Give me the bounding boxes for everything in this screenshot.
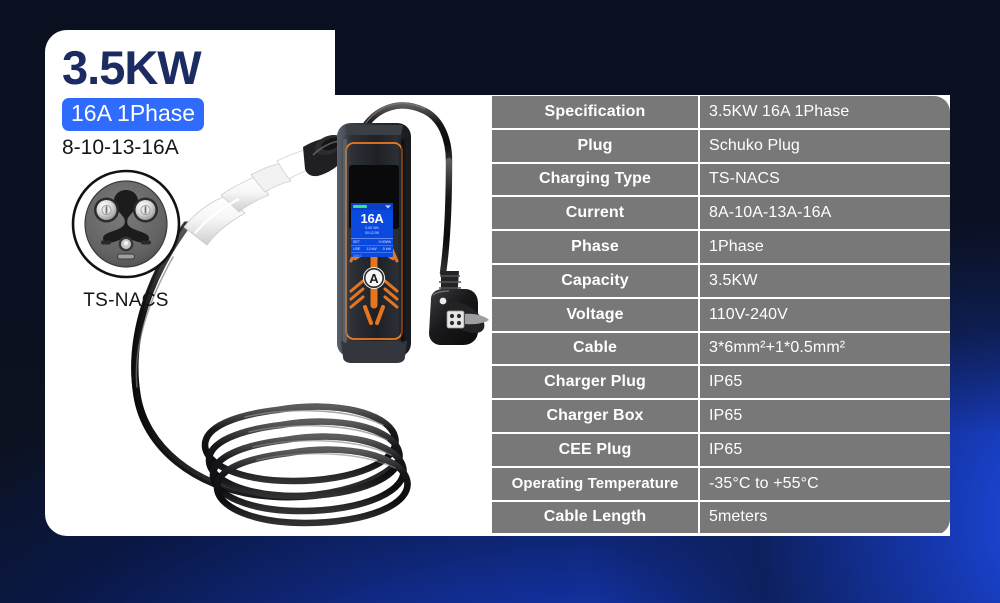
product-illustration: A [45, 95, 495, 536]
schuko-plug-icon [429, 161, 489, 345]
lcd-sub-line-2: 00:12:59 [351, 231, 393, 236]
table-row: Phase 1Phase [492, 231, 950, 265]
table-cell-key: Phase [492, 231, 698, 263]
table-row: Operating Temperature -35°C to +55°C [492, 468, 950, 502]
table-cell-value: 3.5KW [700, 265, 950, 297]
table-cell-key: Cable [492, 333, 698, 365]
table-row: Charging Type TS-NACS [492, 164, 950, 198]
device-lcd-screen: 16A 0.00 Wh 00:12:59 SET 0.00Wh USE 12 k… [351, 203, 393, 257]
table-cell-key: Operating Temperature [492, 468, 698, 500]
table-cell-key: Capacity [492, 265, 698, 297]
table-row: Cable 3*6mm²+1*0.5mm² [492, 333, 950, 367]
table-cell-value: IP65 [700, 434, 950, 466]
table-row: Charger Box IP65 [492, 400, 950, 434]
table-row: Specification 3.5KW 16A 1Phase [492, 96, 950, 130]
table-cell-key: Specification [492, 96, 698, 128]
page-title: 3.5KW [62, 44, 204, 92]
table-cell-key: Charger Box [492, 400, 698, 432]
signal-icon [353, 205, 367, 208]
table-cell-key: Voltage [492, 299, 698, 331]
connector-badge: TS-NACS [70, 168, 182, 312]
lcd-row: USE 12 kW 0 kW [351, 246, 393, 253]
svg-text:A: A [369, 271, 379, 286]
status-badge: 16A 1Phase [62, 98, 204, 131]
lcd-row-label: SET [353, 239, 360, 245]
table-cell-value: IP65 [700, 366, 950, 398]
lcd-current-value: 16A [351, 211, 393, 226]
table-cell-key: Plug [492, 130, 698, 162]
lcd-row-value: 0.00Wh [379, 239, 391, 245]
table-cell-value: 3*6mm²+1*0.5mm² [700, 333, 950, 365]
table-cell-key: Current [492, 197, 698, 229]
card-step-curve [280, 28, 350, 100]
ts-nacs-connector-icon [70, 168, 182, 280]
table-row: CEE Plug IP65 [492, 434, 950, 468]
specification-table: Specification 3.5KW 16A 1Phase Plug Schu… [492, 96, 950, 535]
headline-block: 3.5KW 16A 1Phase 8-10-13-16A [62, 44, 204, 160]
table-cell-key: Charger Plug [492, 366, 698, 398]
lcd-row-label: USE [353, 246, 360, 252]
table-row: Voltage 110V-240V [492, 299, 950, 333]
table-cell-value: -35°C to +55°C [700, 468, 950, 500]
lcd-row-extra: 0 kW [383, 246, 391, 252]
table-cell-value: Schuko Plug [700, 130, 950, 162]
lcd-status-bar [351, 203, 393, 210]
table-cell-value: 3.5KW 16A 1Phase [700, 96, 950, 128]
lcd-footer: 100.0 [351, 253, 393, 257]
table-row: Current 8A-10A-13A-16A [492, 197, 950, 231]
lcd-row: SET 0.00Wh [351, 239, 393, 246]
table-cell-value: 110V-240V [700, 299, 950, 331]
wifi-icon [385, 205, 391, 209]
table-row: Capacity 3.5KW [492, 265, 950, 299]
table-row: Plug Schuko Plug [492, 130, 950, 164]
table-cell-key: CEE Plug [492, 434, 698, 466]
lcd-row-value: 12 kW [367, 246, 377, 252]
table-cell-key: Charging Type [492, 164, 698, 196]
table-cell-value: 5meters [700, 502, 950, 534]
table-row: Cable Length 5meters [492, 502, 950, 536]
table-cell-value: IP65 [700, 400, 950, 432]
table-cell-value: 1Phase [700, 231, 950, 263]
table-cell-value: TS-NACS [700, 164, 950, 196]
connector-badge-label: TS-NACS [70, 290, 182, 312]
table-cell-value: 8A-10A-13A-16A [700, 197, 950, 229]
table-cell-key: Cable Length [492, 502, 698, 534]
current-steps-label: 8-10-13-16A [62, 136, 204, 160]
table-row: Charger Plug IP65 [492, 366, 950, 400]
nacs-handle-icon [184, 131, 348, 245]
lcd-readout-rows: SET 0.00Wh USE 12 kW 0 kW [351, 238, 393, 253]
product-spec-banner: 3.5KW 16A 1Phase 8-10-13-16A [0, 0, 1000, 603]
